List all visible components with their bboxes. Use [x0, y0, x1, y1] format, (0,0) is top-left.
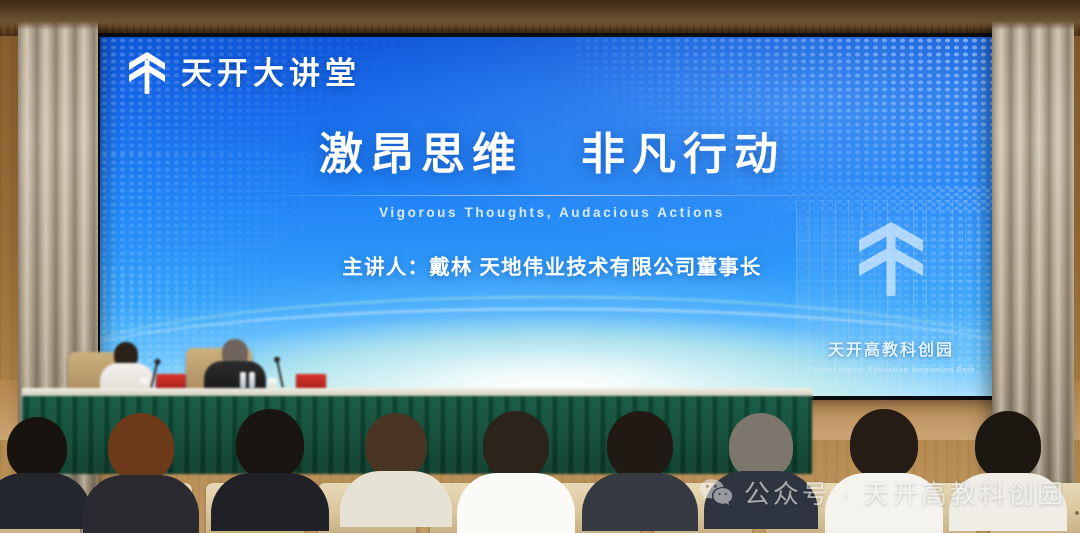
watermark-text: 公众号 · 天开高教科创园 [744, 474, 1066, 511]
title-part-2: 非凡行动 [581, 132, 785, 178]
slide-main-title: 激昂思维 非凡行动 [100, 132, 1004, 178]
title-divider [252, 195, 852, 196]
tiankai-emblem-icon [126, 51, 168, 95]
curtain-valance [0, 0, 1080, 30]
slide-logo: 天开大讲堂 [126, 51, 361, 95]
watermark: 公众号 · 天开高教科创园 [699, 474, 1066, 511]
wechat-icon [699, 478, 733, 508]
screenshot-root: 天开大讲堂 激昂思维 非凡行动 Vigorous Thoughts, Audac… [0, 0, 1080, 533]
tiankai-park-emblem-icon [853, 218, 929, 300]
slide-logo-text: 天开大讲堂 [181, 58, 361, 89]
title-part-1: 激昂思维 [319, 132, 523, 178]
